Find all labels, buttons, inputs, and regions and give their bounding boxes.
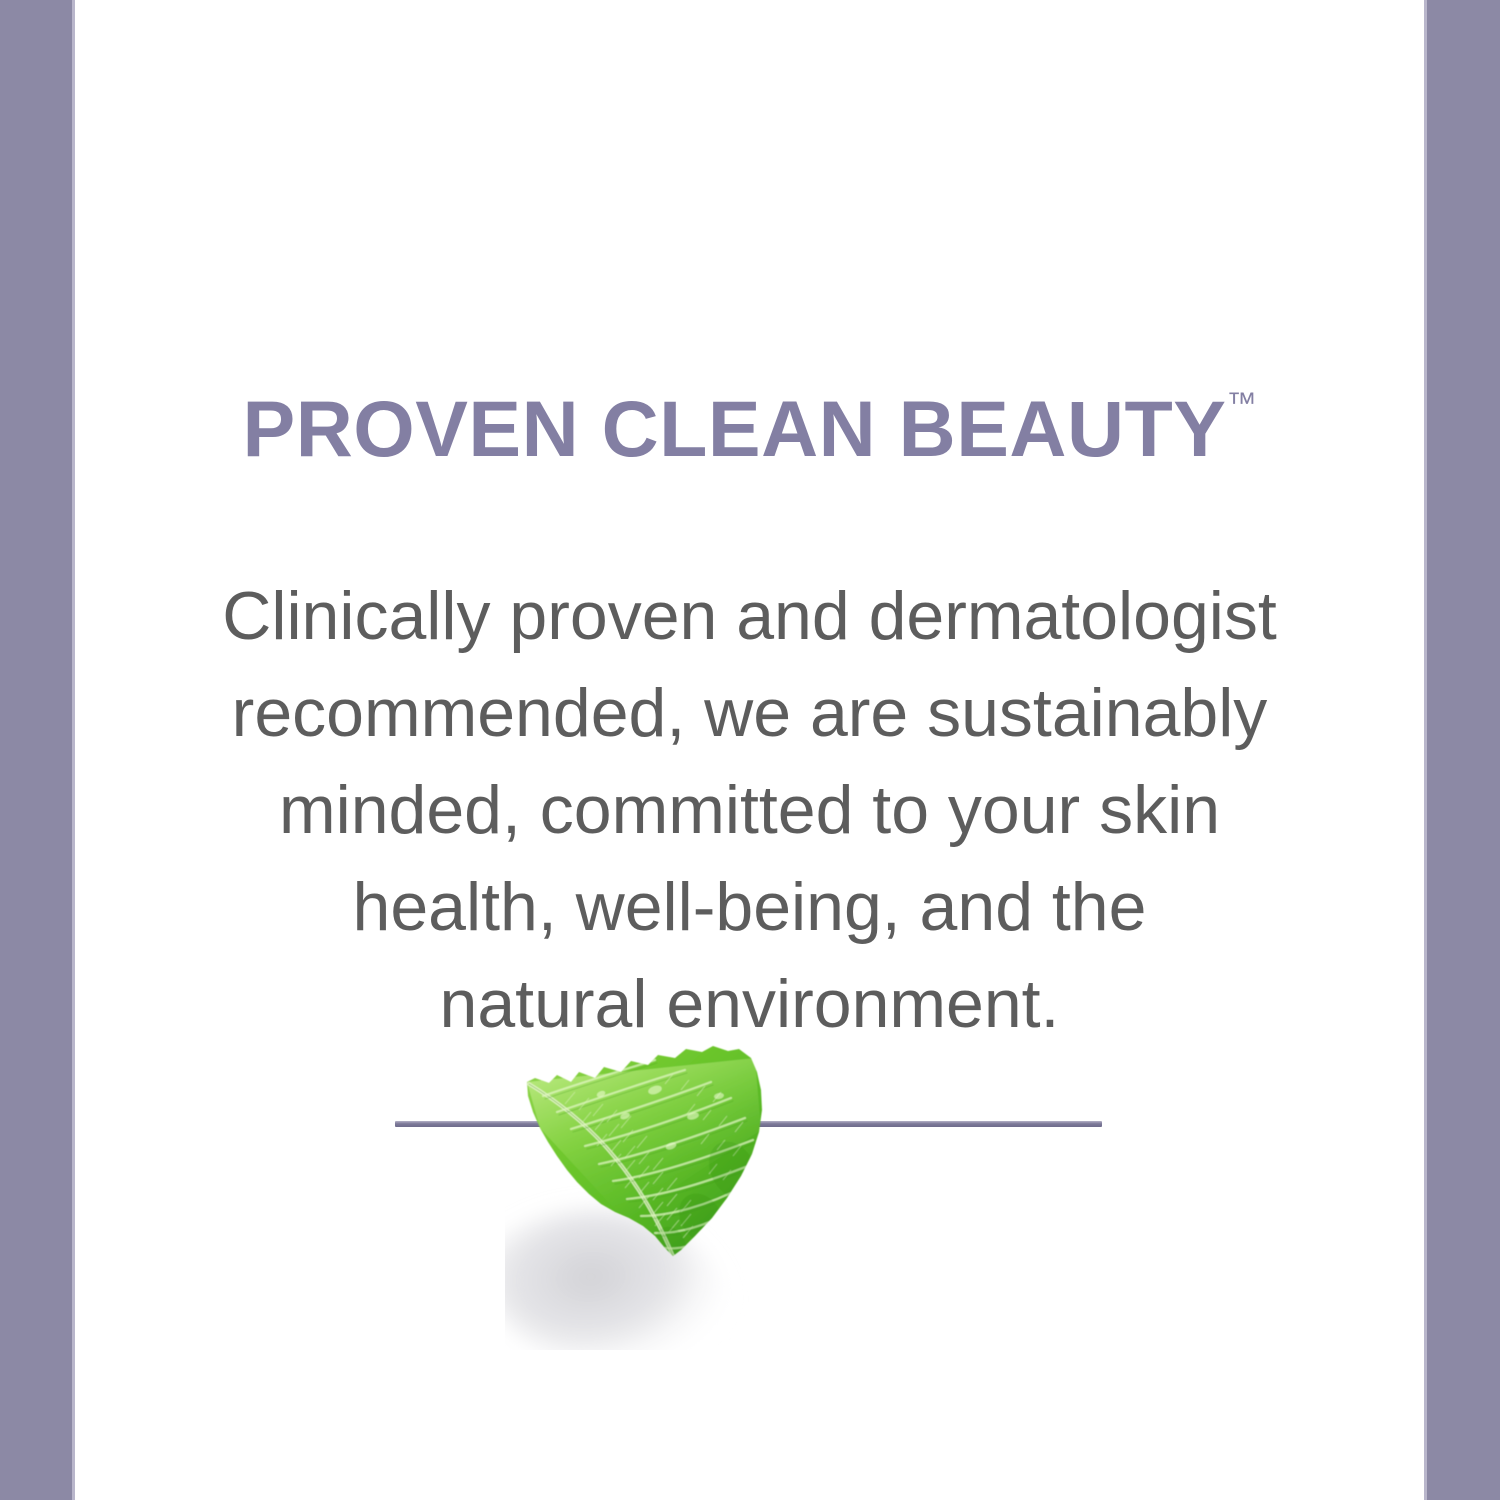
brand-description-line: natural environment.	[115, 956, 1384, 1053]
right-accent-bar	[1424, 0, 1500, 1500]
brand-description-line: recommended, we are sustainably	[115, 665, 1384, 762]
brand-statement-card: PROVEN CLEAN BEAUTY™ Clinically proven a…	[0, 0, 1500, 1500]
brand-description-line: health, well-being, and the	[115, 859, 1384, 956]
brand-description-line: minded, committed to your skin	[115, 762, 1384, 859]
brand-description-line: Clinically proven and dermatologist	[115, 568, 1384, 665]
brand-description: Clinically proven and dermatologist reco…	[115, 568, 1384, 1053]
page-title-text: PROVEN CLEAN BEAUTY	[243, 384, 1227, 473]
leaf-icon	[505, 1020, 845, 1350]
leaf-blade	[527, 1046, 767, 1267]
trademark-symbol: ™	[1226, 387, 1256, 420]
horizontal-rule-divider	[395, 1121, 1102, 1127]
page-title: PROVEN CLEAN BEAUTY™	[75, 389, 1424, 468]
leaf-shadow	[505, 1196, 736, 1350]
left-accent-bar	[0, 0, 75, 1500]
content-area: PROVEN CLEAN BEAUTY™ Clinically proven a…	[75, 0, 1424, 1500]
